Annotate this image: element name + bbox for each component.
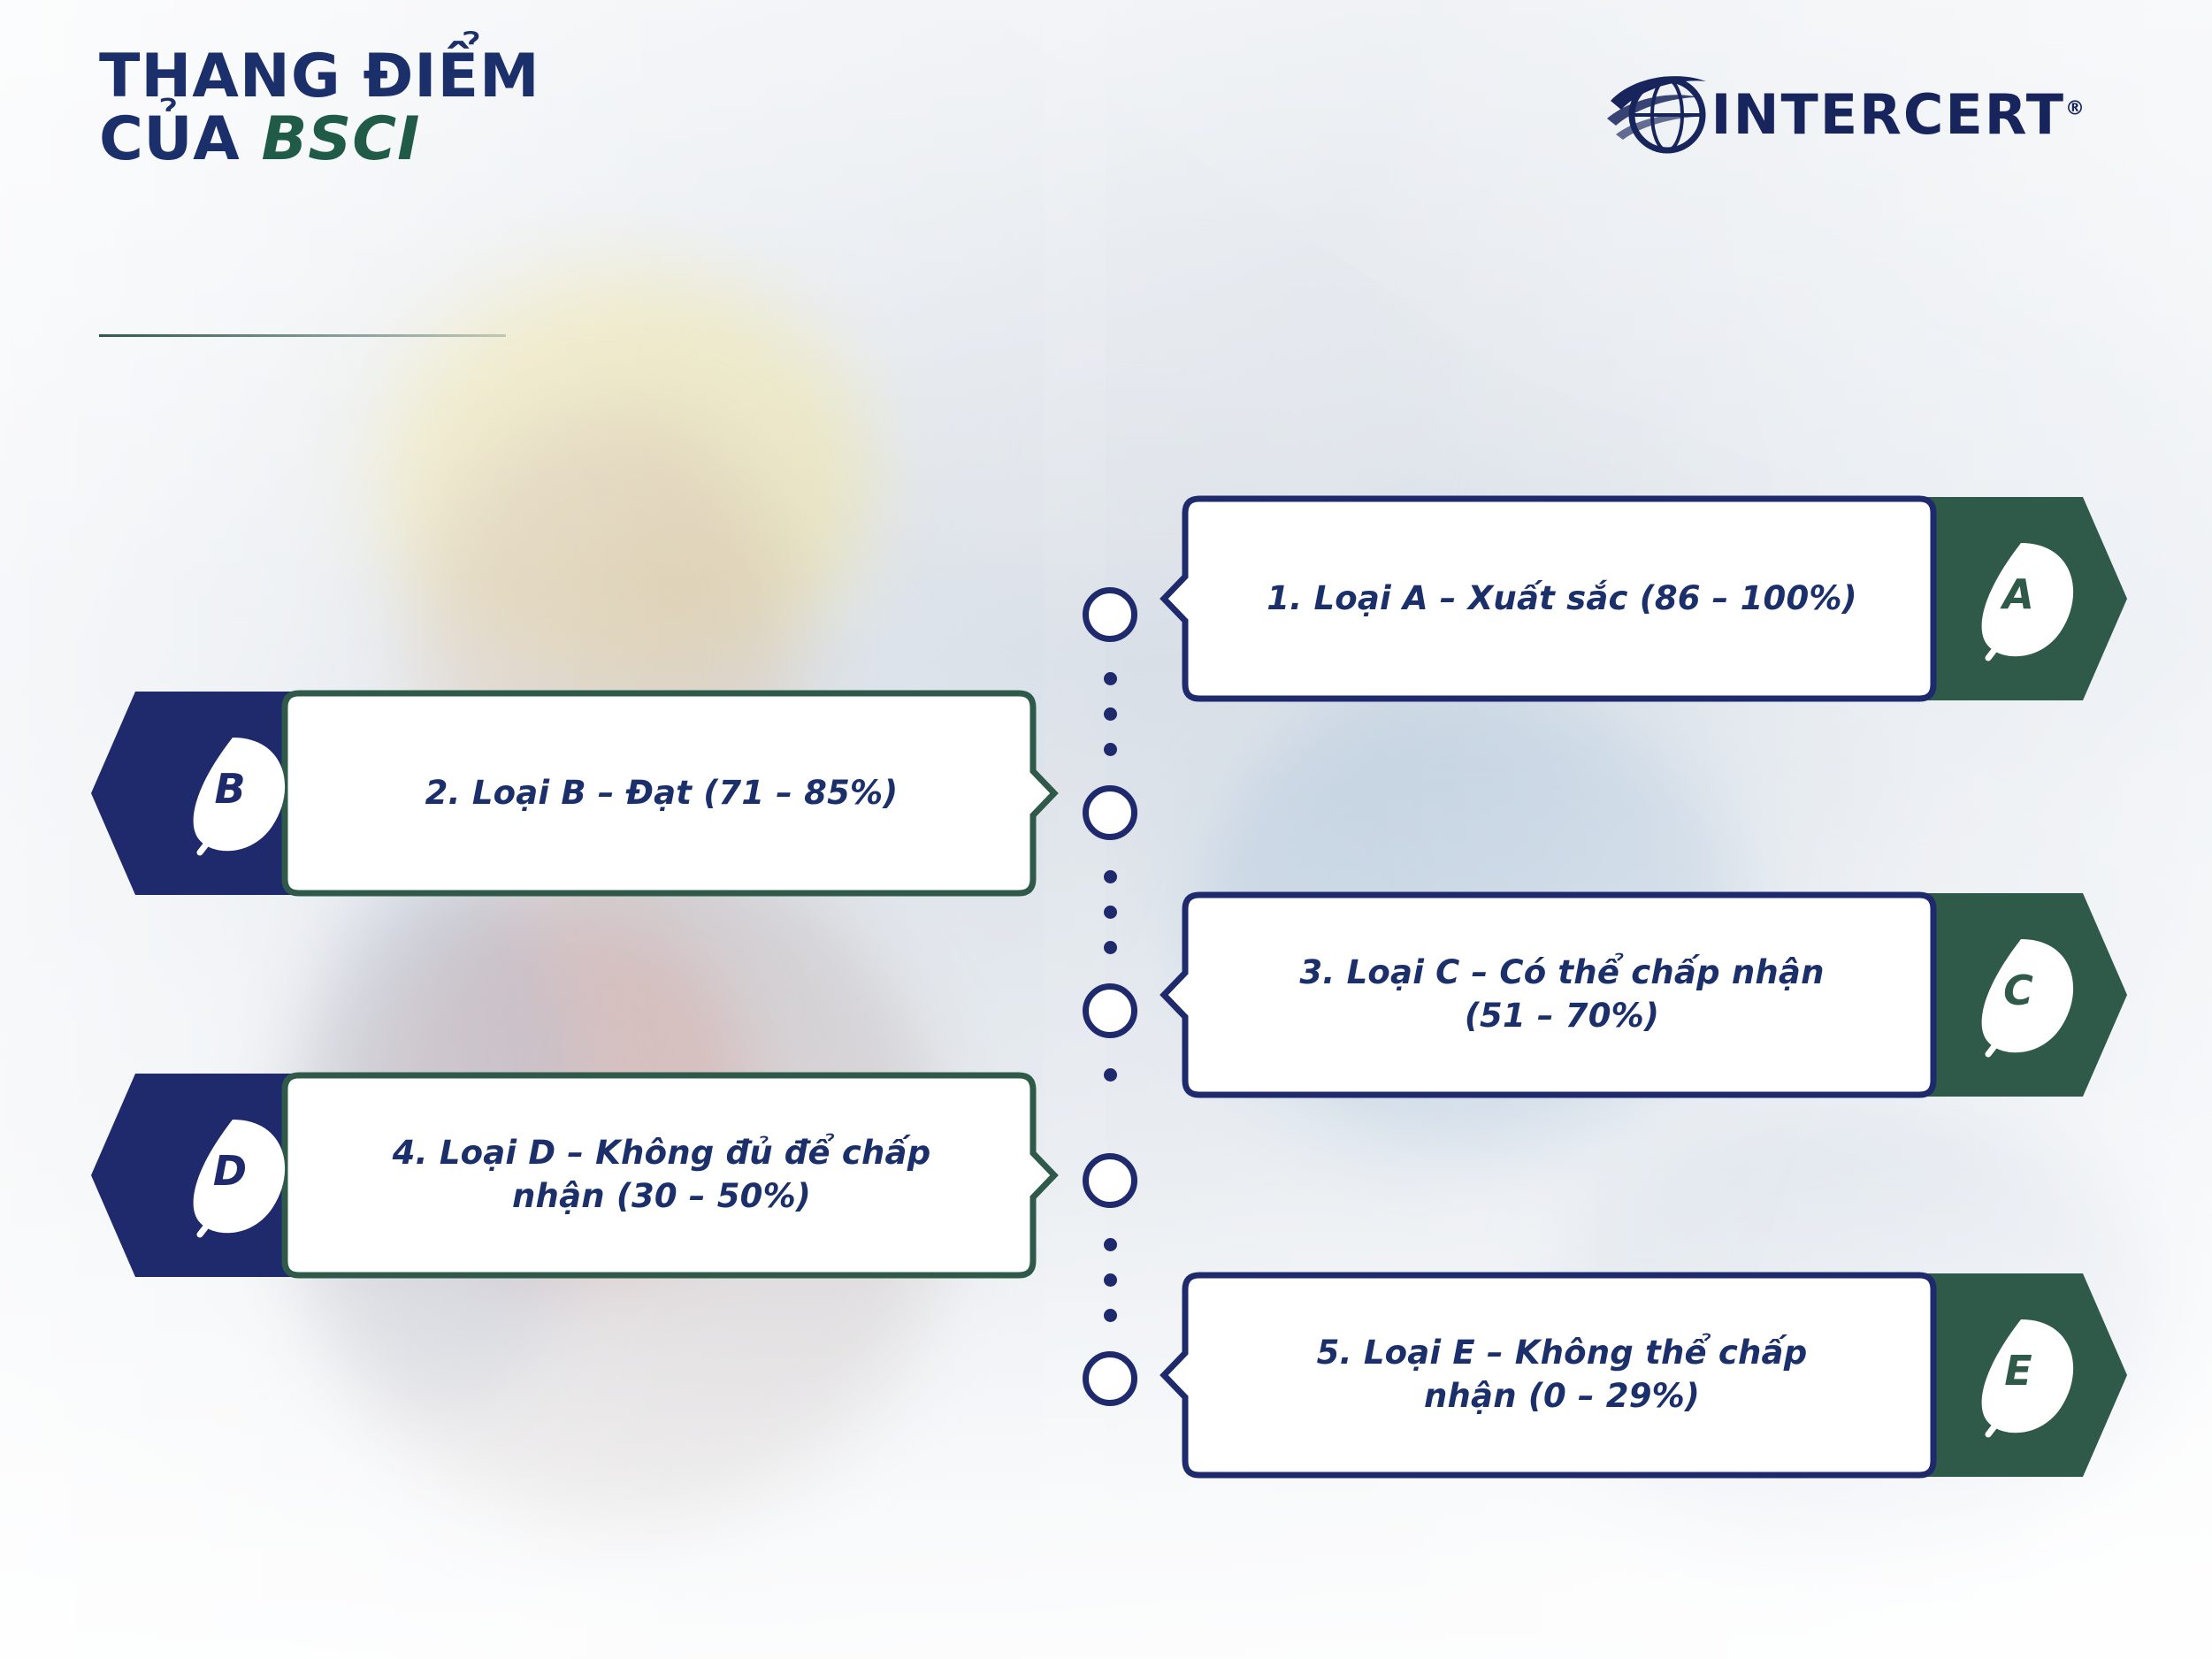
card-c-badge: C (1990, 962, 2047, 1019)
card-e-label-line2: nhận (0 – 29%) (1424, 1375, 1700, 1418)
timeline-node-e (1083, 1351, 1137, 1406)
card-b-badge: B (202, 761, 258, 817)
card-d-label-line1: 4. Loại D – Không đủ để chấp (393, 1132, 931, 1175)
timeline-dot (1104, 1068, 1117, 1082)
timeline-dot (1104, 941, 1117, 954)
timeline-node-d (1083, 1153, 1137, 1208)
brand-logo-text: INTERCERT® (1711, 82, 2086, 147)
card-d-badge: D (202, 1143, 258, 1199)
card-d-label: 4. Loại D – Không đủ để chấp nhận (30 – … (308, 1075, 1015, 1275)
scale-item-d[interactable]: 4. Loại D – Không đủ để chấp nhận (30 – … (87, 1065, 1060, 1286)
card-e-label: 5. Loại E – Không thể chấp nhận (0 – 29%… (1208, 1275, 1916, 1475)
timeline-dot (1104, 707, 1117, 721)
card-b-label: 2. Loại B – Đạt (71 – 85%) (308, 693, 1015, 893)
card-a-badge: A (1990, 566, 2047, 623)
scale-item-b[interactable]: 2. Loại B – Đạt (71 – 85%) B (87, 683, 1060, 904)
card-e-label-line1: 5. Loại E – Không thể chấp (1317, 1332, 1808, 1375)
page-title: THANG ĐIỂM CỦA BSCI (99, 46, 540, 171)
card-e-badge: E (1990, 1342, 2047, 1399)
page-title-line1: THANG ĐIỂM (99, 46, 540, 109)
timeline-dot (1104, 870, 1117, 883)
card-c-label-line1: 3. Loại C – Có thể chấp nhận (1299, 952, 1824, 995)
timeline-node-a (1083, 587, 1137, 642)
scale-item-a[interactable]: 1. Loại A – Xuất sắc (86 – 100%) A (1159, 488, 2132, 709)
timeline-dot (1104, 1273, 1117, 1287)
scale-item-c[interactable]: 3. Loại C – Có thể chấp nhận (51 – 70%) … (1159, 884, 2132, 1105)
timeline-dot (1104, 743, 1117, 756)
card-c-label-line2: (51 – 70%) (1465, 995, 1659, 1038)
timeline-dot (1104, 1309, 1117, 1322)
registered-mark: ® (2065, 97, 2086, 119)
brand-logo: INTERCERT® (1607, 65, 2086, 163)
timeline-dot (1104, 906, 1117, 919)
page-title-line2-prefix: CỦA (99, 104, 240, 174)
scale-item-e[interactable]: 5. Loại E – Không thể chấp nhận (0 – 29%… (1159, 1265, 2132, 1486)
page-title-line2: CỦA BSCI (99, 109, 540, 172)
page-title-emphasis: BSCI (261, 104, 420, 174)
timeline-node-b (1083, 785, 1137, 840)
timeline-node-c (1083, 983, 1137, 1038)
timeline-dot (1104, 1238, 1117, 1251)
card-d-label-line2: nhận (30 – 50%) (512, 1175, 811, 1219)
title-divider (99, 334, 506, 337)
brand-logo-wordmark: INTERCERT (1711, 82, 2065, 147)
card-a-label: 1. Loại A – Xuất sắc (86 – 100%) (1208, 499, 1916, 699)
globe-swoosh-icon (1607, 64, 1722, 165)
timeline-dot (1104, 672, 1117, 685)
card-c-label: 3. Loại C – Có thể chấp nhận (51 – 70%) (1208, 895, 1916, 1095)
timeline-connector (1075, 548, 1145, 1424)
